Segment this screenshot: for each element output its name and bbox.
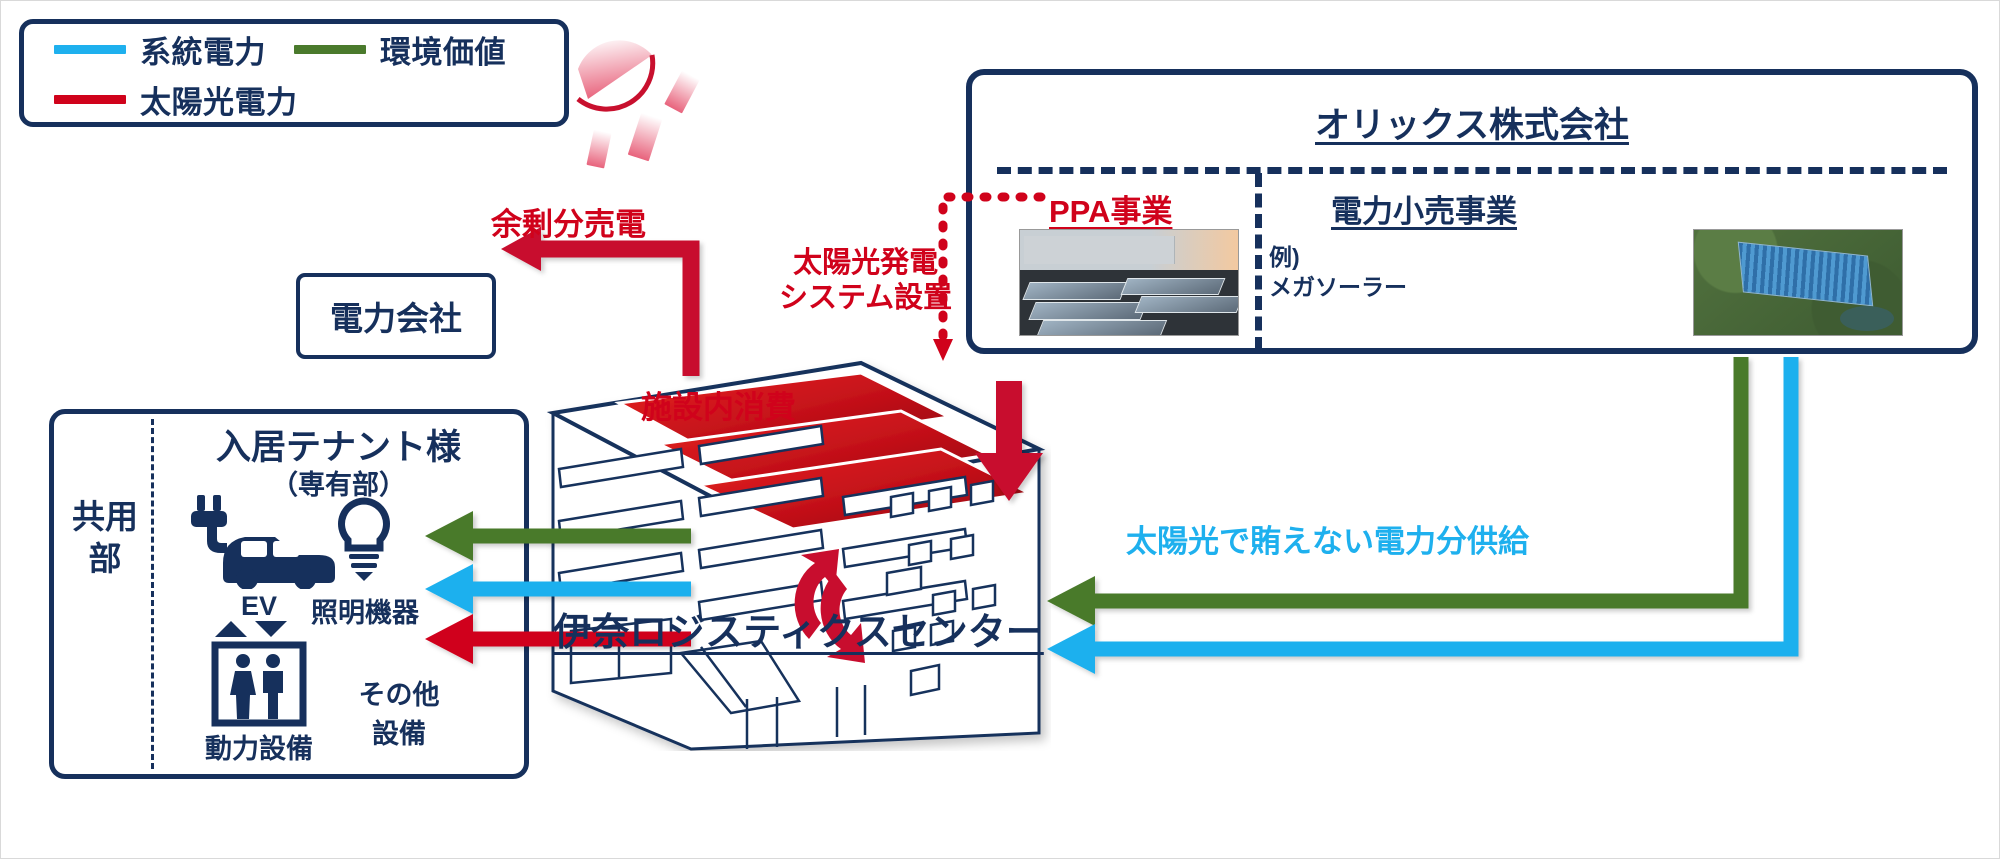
legend-row-2: 太陽光電力 [24,74,564,124]
equipment-label-other: その他 設備 [319,673,479,751]
diagram-canvas: 系統電力 環境価値 太陽光電力 [0,0,2000,859]
orix-vertical-divider [1255,173,1262,351]
ppa-business-title: PPA事業 [1049,186,1172,231]
logistics-building-illustration [531,301,1051,751]
orix-company-title: オリックス株式会社 [966,97,1978,148]
rooftop-solar-panels-photo [1019,229,1239,336]
retail-business-title: 電力小売事業 [1331,186,1517,231]
common-area-label: 共用部 [63,496,147,580]
power-company-label: 電力会社 [330,292,462,340]
legend-box: 系統電力 環境価値 太陽光電力 [19,19,569,127]
legend-label-solar-power: 太陽光電力 [140,77,298,122]
mega-solar-aerial-photo [1693,229,1903,336]
legend-label-environmental-value: 環境価値 [380,27,506,72]
light-bulb-icon [331,496,397,584]
legend-item-grid-power: 系統電力 [24,27,266,72]
ev-car-charging-icon [179,491,339,589]
mega-solar-note: 例) メガソーラー [1269,243,1407,303]
legend-row-1: 系統電力 環境価値 [24,24,564,74]
label-onsite-consumption: 施設内消費 [641,389,796,427]
facility-title: 伊奈ロジスティクスセンター [1,601,1596,656]
line-swatch-icon [294,45,366,54]
legend-item-solar-power: 太陽光電力 [24,77,298,122]
power-company-box: 電力会社 [296,273,496,359]
tenant-divider [151,419,154,769]
legend-item-environmental-value: 環境価値 [284,27,506,72]
legend-label-grid-power: 系統電力 [140,27,266,72]
label-surplus-sale: 余剰分売電 [491,206,646,244]
sun-rays-icon [576,21,716,191]
label-grid-supply: 太陽光で賄えない電力分供給 [1126,523,1529,561]
line-swatch-icon [54,95,126,104]
orix-horizontal-divider [997,167,1947,174]
arrow-environmental-value-from-orix [1047,357,1741,626]
label-solar-system-install: 太陽光発電 システム設置 [779,246,952,317]
line-swatch-icon [54,45,126,54]
